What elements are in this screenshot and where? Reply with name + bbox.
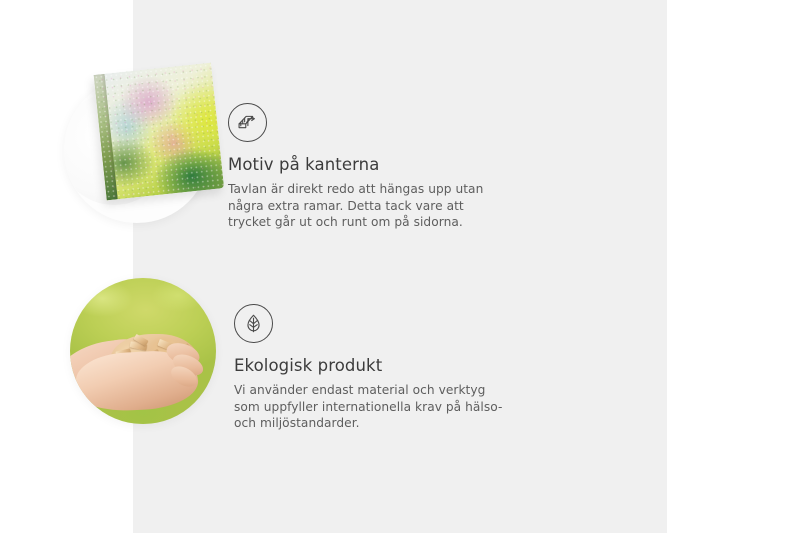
canvas-wrapped-edges-icon — [228, 103, 267, 142]
hands-holding-wood-chips-photo — [70, 278, 216, 424]
product-feature-graphic: Motiv på kanterna Tavlan är direkt redo … — [0, 0, 800, 533]
feature-block-motiv-pa-kanterna: Motiv på kanterna Tavlan är direkt redo … — [64, 77, 508, 231]
feature-title: Ekologisk produkt — [234, 356, 514, 376]
feature-image-canvas-corner — [64, 77, 210, 223]
feature-title: Motiv på kanterna — [228, 155, 508, 175]
canvas-corner-abstract-art-photo — [94, 63, 225, 201]
feature-image-wood-chips — [70, 278, 216, 424]
leaf-icon — [234, 304, 273, 343]
feature-description: Vi använder endast material och verktyg … — [234, 382, 514, 432]
feature-description: Tavlan är direkt redo att hängas upp uta… — [228, 181, 508, 231]
feature-copy: Motiv på kanterna Tavlan är direkt redo … — [228, 77, 508, 231]
paint-texture-overlay — [94, 63, 225, 201]
feature-copy: Ekologisk produkt Vi använder endast mat… — [234, 278, 514, 432]
feature-block-ekologisk-produkt: Ekologisk produkt Vi använder endast mat… — [70, 278, 514, 432]
